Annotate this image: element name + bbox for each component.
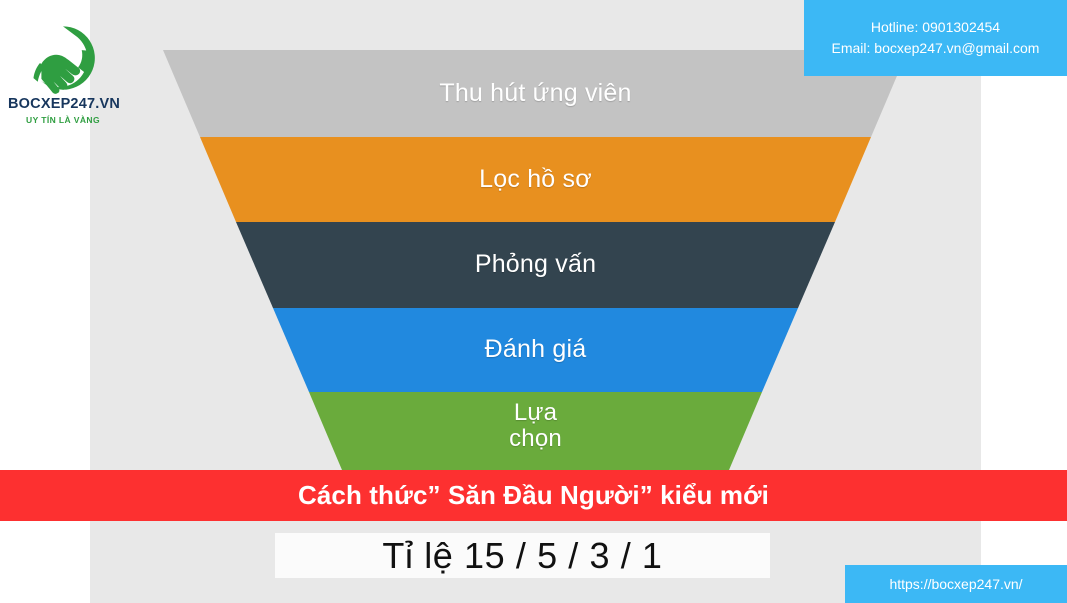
handshake-circle-icon bbox=[27, 22, 99, 94]
funnel-stage-evaluate bbox=[273, 308, 798, 392]
page-title: Cách thức” Săn Đầu Người” kiểu mới bbox=[298, 480, 769, 511]
ratio-text: Tỉ lệ 15 / 5 / 3 / 1 bbox=[382, 535, 662, 577]
website-url-badge[interactable]: https://bocxep247.vn/ bbox=[845, 565, 1067, 603]
logo-tagline: UY TÍN LÀ VÀNG bbox=[8, 115, 118, 125]
funnel-stage-select bbox=[309, 392, 762, 470]
screenshot-root: Thu hút ứng viên Lọc hồ sơ Phỏng vấn Đán… bbox=[0, 0, 1067, 603]
ratio-box: Tỉ lệ 15 / 5 / 3 / 1 bbox=[275, 533, 770, 578]
funnel-stage-screen bbox=[200, 137, 871, 222]
logo-brand-name: BOCXEP247.VN bbox=[8, 96, 118, 112]
funnel-stage-attract bbox=[163, 50, 908, 137]
title-banner: Cách thức” Săn Đầu Người” kiểu mới bbox=[0, 470, 1067, 521]
funnel-stage-interview bbox=[236, 222, 835, 308]
brand-logo[interactable]: BOCXEP247.VN UY TÍN LÀ VÀNG bbox=[8, 22, 118, 125]
hotline-text: Hotline: 0901302454 bbox=[871, 19, 1000, 37]
email-text: Email: bocxep247.vn@gmail.com bbox=[832, 40, 1040, 58]
contact-banner: Hotline: 0901302454 Email: bocxep247.vn@… bbox=[804, 0, 1067, 76]
website-url-text: https://bocxep247.vn/ bbox=[889, 576, 1022, 592]
